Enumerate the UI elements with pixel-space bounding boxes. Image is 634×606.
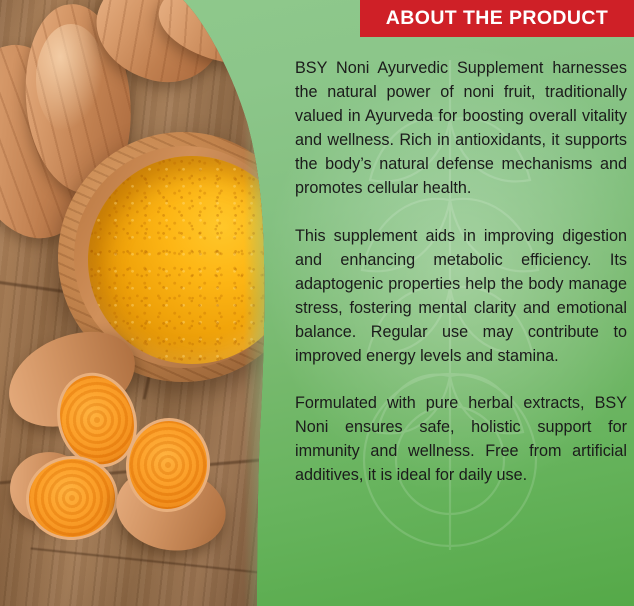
- paragraph-3: Formulated with pure herbal extracts, BS…: [295, 391, 627, 487]
- paragraph-2: This supplement aids in improving digest…: [295, 224, 627, 369]
- product-photo: [0, 0, 272, 606]
- about-the-product-banner: ABOUT THE PRODUCT: [360, 0, 634, 37]
- photo-canvas: [0, 0, 272, 606]
- banner-title: ABOUT THE PRODUCT: [386, 7, 608, 30]
- about-the-product-poster: ABOUT THE PRODUCT BSY Noni Ayurvedic Sup…: [0, 0, 634, 606]
- product-description: BSY Noni Ayurvedic Supplement harnesses …: [295, 56, 627, 488]
- root-highlight: [36, 24, 106, 134]
- paragraph-1: BSY Noni Ayurvedic Supplement harnesses …: [295, 56, 627, 201]
